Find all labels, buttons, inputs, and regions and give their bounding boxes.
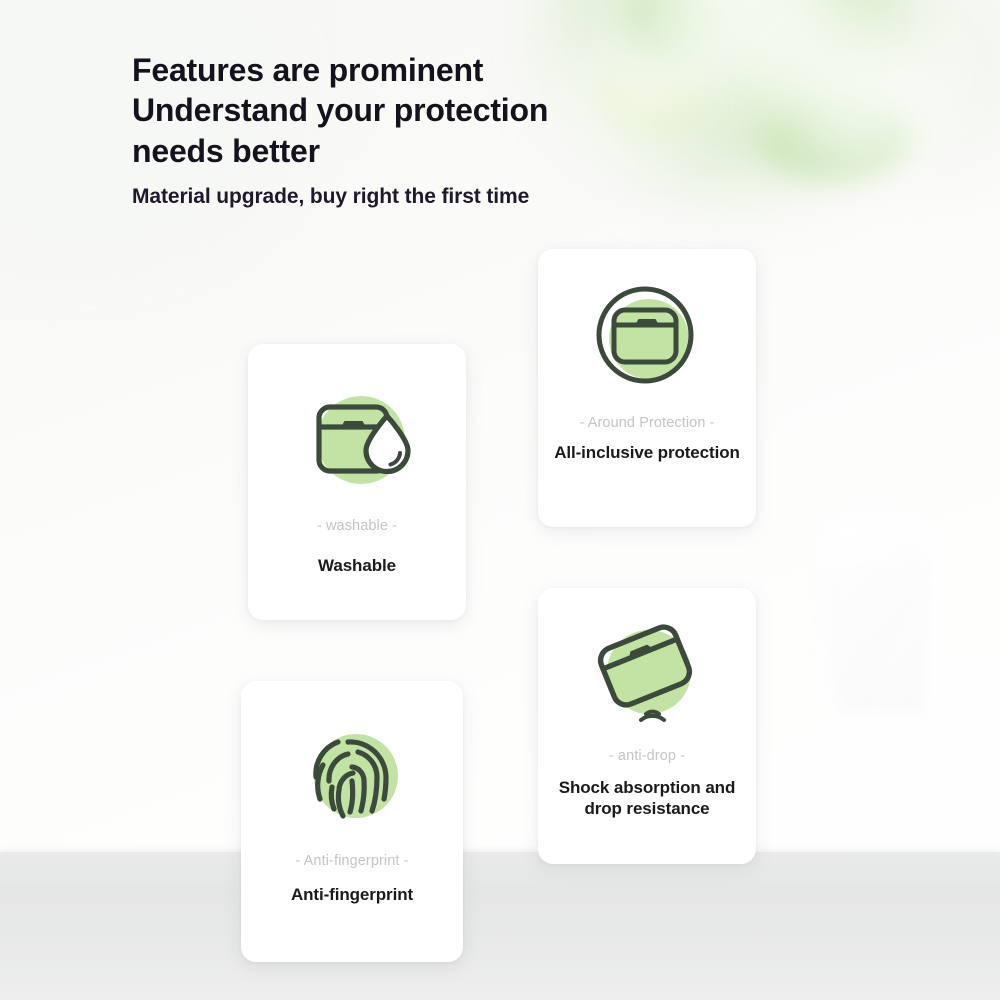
case-in-circle-protection-icon xyxy=(591,281,703,393)
tilted-case-impact-waves-icon xyxy=(589,616,705,728)
feature-card-anti-drop[interactable]: - anti-drop - Shock absorption and drop … xyxy=(538,588,756,864)
card-title: Washable xyxy=(318,556,396,577)
card-title: Anti-fingerprint xyxy=(291,885,413,906)
feature-highlights-page: Features are prominent Understand your p… xyxy=(0,0,1000,1000)
heading-block: Features are prominent Understand your p… xyxy=(132,50,752,209)
card-title: All-inclusive protection xyxy=(554,443,740,464)
feature-card-anti-fingerprint[interactable]: - Anti-fingerprint - Anti-fingerprint xyxy=(241,681,463,962)
page-title: Features are prominent Understand your p… xyxy=(132,50,752,171)
washable-case-water-drop-icon xyxy=(299,388,415,492)
card-sub-label: - washable - xyxy=(317,518,397,534)
card-sub-label: - Anti-fingerprint - xyxy=(295,853,408,869)
table-surface-band xyxy=(0,852,1000,1000)
page-subtitle: Material upgrade, buy right the first ti… xyxy=(132,185,752,209)
feature-card-washable[interactable]: - washable - Washable xyxy=(248,344,466,620)
card-sub-label: - anti-drop - xyxy=(609,748,685,764)
card-title: Shock absorption and drop resistance xyxy=(538,778,756,819)
card-sub-label: - Around Protection - xyxy=(579,415,714,431)
feature-card-all-inclusive-protection[interactable]: - Around Protection - All-inclusive prot… xyxy=(538,249,756,527)
fingerprint-icon xyxy=(296,721,408,827)
background-blurred-object xyxy=(836,528,928,714)
